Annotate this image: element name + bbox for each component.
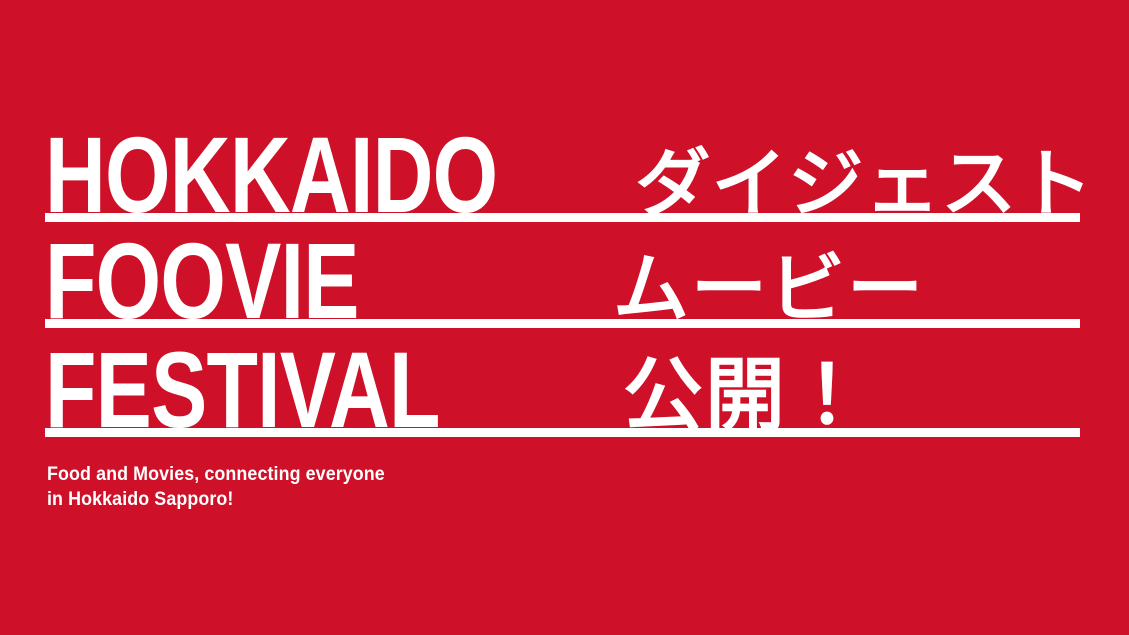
tagline: Food and Movies, connecting everyone in … [47, 462, 385, 512]
tagline-line-1: Food and Movies, connecting everyone [47, 462, 385, 487]
title-rule-2 [45, 319, 1080, 328]
title-block: HOKKAIDO ダイジェスト FOOVIE ムービー FESTIVAL 公開！ [45, 120, 1080, 437]
poster-canvas: HOKKAIDO ダイジェスト FOOVIE ムービー FESTIVAL 公開！… [0, 0, 1129, 635]
title-japanese-movie: ムービー [613, 254, 925, 324]
title-rule-3 [45, 428, 1080, 437]
title-row-3: FESTIVAL 公開！ [45, 328, 1080, 437]
title-row-2: FOOVIE ムービー [45, 222, 1080, 328]
title-row-1: HOKKAIDO ダイジェスト [45, 120, 1080, 222]
title-latin-festival: FESTIVAL [45, 346, 440, 435]
title-latin-foovie: FOOVIE [45, 237, 359, 326]
tagline-line-2: in Hokkaido Sapporo! [47, 487, 385, 512]
title-japanese-digest: ダイジェスト [635, 150, 1094, 218]
title-japanese-kokai: 公開！ [623, 359, 869, 433]
title-latin-hokkaido: HOKKAIDO [45, 131, 497, 220]
